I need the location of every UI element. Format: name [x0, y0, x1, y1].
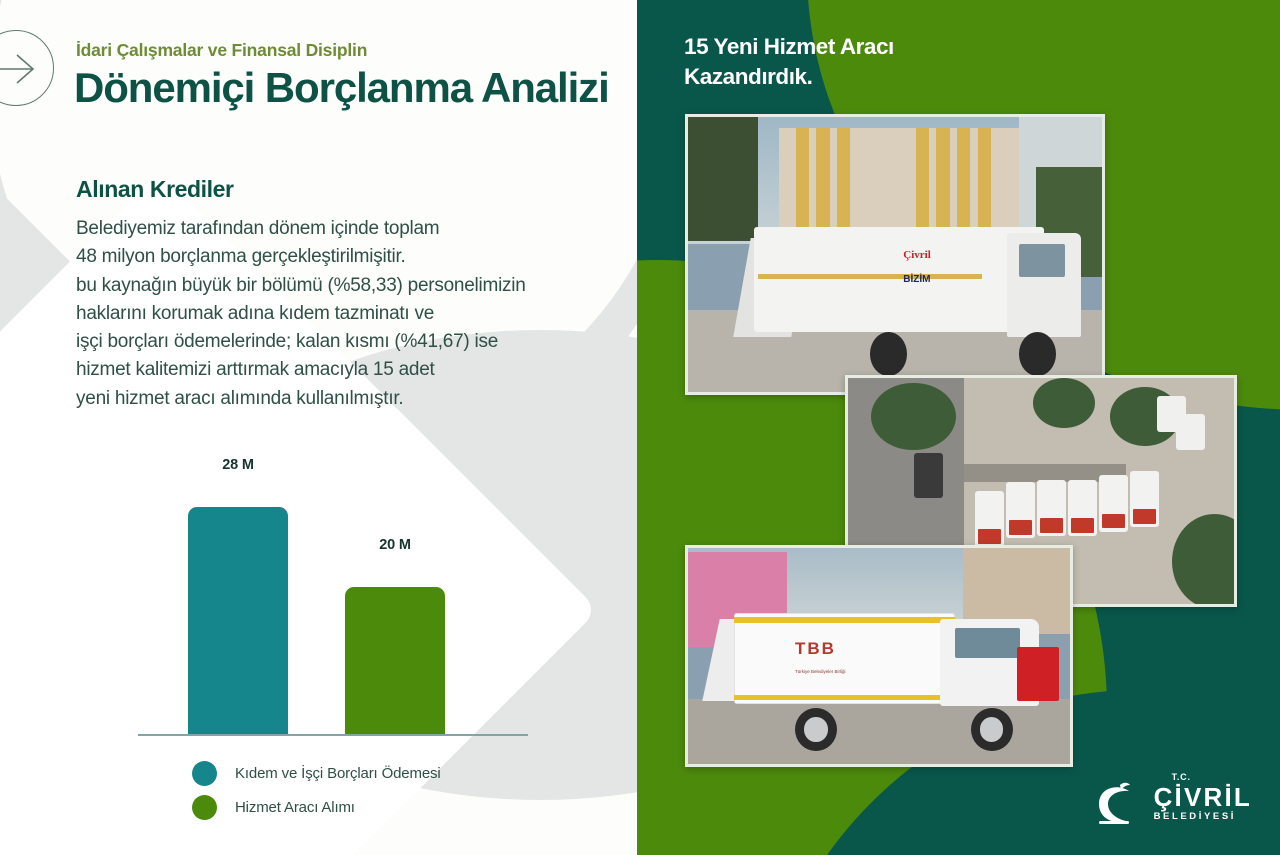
- legend-swatch-icon: [192, 761, 217, 786]
- photo-garbage-truck-civril: Çivril BİZİM: [685, 114, 1105, 395]
- bar-hizmet: [345, 587, 445, 735]
- section-subtitle: Alınan Krediler: [76, 176, 234, 203]
- municipality-logo: T.C. ÇİVRİL BELEDİYESİ: [1093, 777, 1252, 829]
- legend-label: Hizmet Aracı Alımı: [235, 799, 355, 816]
- arrow-right-circle-icon: [0, 30, 54, 106]
- legend-swatch-icon: [192, 795, 217, 820]
- photo3-brand-text-1: TBB: [795, 639, 836, 659]
- legend-item-kidem: Kıdem ve İşçi Borçları Ödemesi: [192, 756, 441, 790]
- photo1-brand-text-1: Çivril: [903, 249, 931, 261]
- arrow-right-icon: [0, 49, 43, 89]
- chart-legend: Kıdem ve İşçi Borçları Ödemesi Hizmet Ar…: [192, 756, 441, 824]
- legend-item-hizmet: Hizmet Aracı Alımı: [192, 790, 441, 824]
- logo-name-text: ÇİVRİL: [1154, 784, 1252, 810]
- legend-label: Kıdem ve İşçi Borçları Ödemesi: [235, 765, 441, 782]
- photo1-brand-text-2: BİZİM: [903, 274, 930, 285]
- chart-baseline-axis: [138, 734, 528, 736]
- left-panel: İdari Çalışmalar ve Finansal Disiplin Dö…: [0, 0, 637, 855]
- bar-value-label-hizmet: 20 M: [345, 537, 445, 553]
- apple-logo-icon: [1093, 777, 1145, 829]
- page-title: Dönemiçi Borçlanma Analizi: [74, 62, 609, 114]
- bar-value-label-kidem: 28 M: [188, 457, 288, 473]
- right-panel: 15 Yeni Hizmet Aracı Kazandırdık.: [637, 0, 1280, 855]
- photo3-brand-text-2: Türkiye Belediyeler Birliği: [795, 669, 846, 674]
- right-panel-heading: 15 Yeni Hizmet Aracı Kazandırdık.: [684, 32, 894, 92]
- civril-apple-icon: [1093, 777, 1145, 829]
- slide-root: İdari Çalışmalar ve Finansal Disiplin Dö…: [0, 0, 1280, 855]
- bar-kidem: [188, 507, 288, 735]
- eyebrow-text: İdari Çalışmalar ve Finansal Disiplin: [76, 40, 367, 61]
- logo-subtitle-text: BELEDİYESİ: [1154, 811, 1252, 822]
- body-paragraph: Belediyemiz tarafından dönem içinde topl…: [76, 215, 526, 413]
- bar-chart: 28 M 20 M Kıdem ve İşçi Borçları Ödemesi…: [130, 480, 530, 830]
- photo-tbb-truck: TBB Türkiye Belediyeler Birliği: [685, 545, 1073, 767]
- chart-plot-area: 28 M 20 M: [130, 480, 530, 735]
- logo-tc-text: T.C.: [1172, 772, 1191, 782]
